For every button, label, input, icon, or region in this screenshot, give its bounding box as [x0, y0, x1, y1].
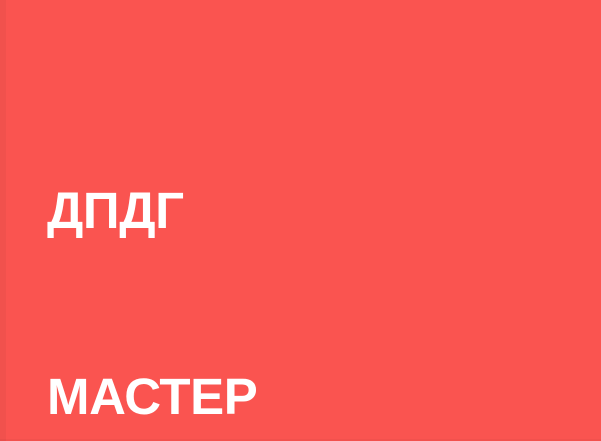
title-line-1: ДПДГ: [47, 180, 547, 242]
slide-left-edge-seam: [0, 0, 6, 441]
page-title: ДПДГ МАСТЕР: [47, 56, 547, 441]
title-text-block: ДПДГ МАСТЕР Продвинутые концепции, страт…: [47, 56, 547, 441]
title-line-2: МАСТЕР: [47, 366, 547, 428]
title-slide: ДПДГ МАСТЕР Продвинутые концепции, страт…: [0, 0, 601, 441]
